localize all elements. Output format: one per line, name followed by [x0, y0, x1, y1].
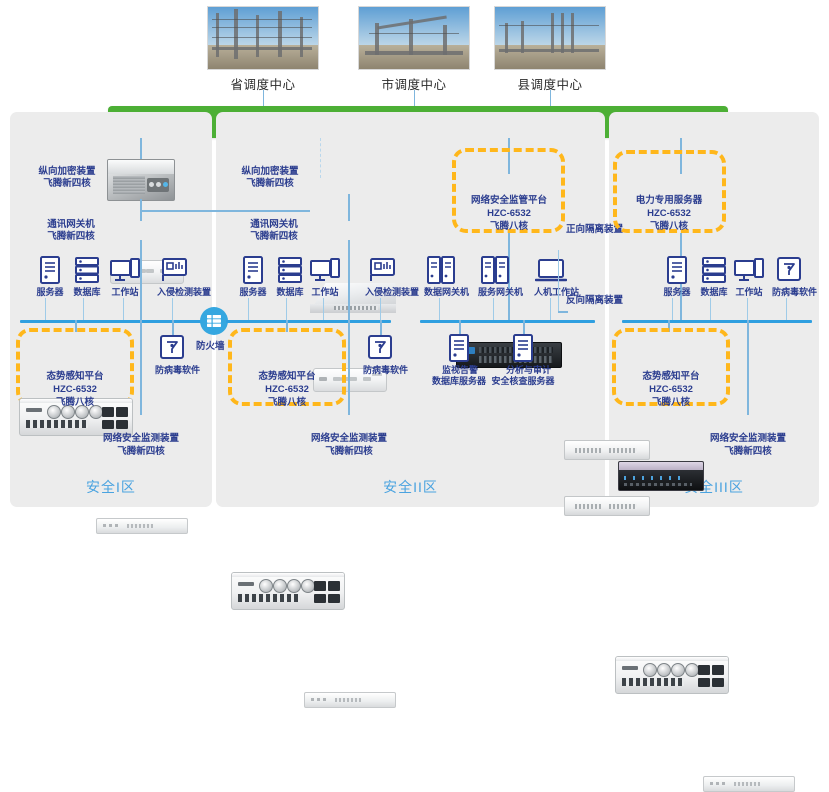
stem-z2-data-gateway — [439, 298, 440, 321]
connector-z2-enc-to-gateway — [348, 194, 350, 221]
z3-network-monitor-icon[interactable] — [703, 776, 795, 792]
stem-z1-ids — [172, 298, 173, 321]
z2-icon-intrusion-detection[interactable]: 入侵检测装置 — [365, 256, 399, 298]
icon-label: 数据库 — [70, 287, 104, 298]
z3-network-bus — [622, 320, 812, 323]
connector-z1-to-z2-link — [140, 210, 310, 212]
firewall-label: 防火墙 — [196, 338, 225, 352]
connector-vpn-to-z2-encryptor — [320, 138, 321, 178]
z2-right-network-bus — [420, 320, 595, 323]
stem-z3-server — [672, 298, 673, 321]
dispatch-center-photos: 省调度中心 市调度中心 — [0, 0, 829, 100]
z1-network-monitor-label: 网络安全监测装置 飞腾新四核 — [81, 432, 201, 458]
connector-z1-bus-to-monitor — [140, 320, 142, 415]
icon-label: 入侵检测装置 — [365, 287, 399, 298]
z1-communication-gateway-label: 通讯网关机 飞腾新四核 — [36, 219, 106, 243]
z1-vertical-encryption-device-icon[interactable] — [107, 159, 175, 201]
icon-label-line2: 数据库服务器 — [425, 376, 493, 387]
icon-label-line1: 监视告警 — [442, 365, 476, 376]
connector-isolation-to-bus — [558, 311, 568, 313]
z1-network-bus — [20, 320, 220, 323]
icon-label: 工作站 — [732, 287, 766, 298]
connector-z2-gateway-to-bus — [348, 240, 350, 321]
icon-label: 工作站 — [308, 287, 342, 298]
substation-photo — [358, 6, 470, 70]
connector-z3-bus-to-monitor — [747, 320, 749, 415]
stem-z1-server — [45, 298, 46, 321]
z2-icon-workstation[interactable]: 工作站 — [308, 256, 342, 298]
z2-reverse-isolation-device-icon[interactable] — [564, 496, 650, 516]
z2-icon-service-gateway[interactable]: 服务网关机 — [478, 256, 512, 298]
z1-icon-workstation[interactable]: 工作站 — [108, 256, 142, 298]
z1-icon-intrusion-detection[interactable]: 入侵检测装置 — [157, 256, 191, 298]
zone-label: 安全II区 — [216, 477, 605, 497]
stem-z2-hmi — [550, 298, 551, 321]
z2-icon-server[interactable]: 服务器 — [236, 256, 270, 298]
connector-isolation-left-rail — [558, 250, 559, 312]
z2-left-network-bus — [226, 320, 391, 323]
icon-label: 入侵检测装置 — [157, 287, 191, 298]
stem-z1-database — [83, 298, 84, 321]
icon-label: 防病毒软件 — [155, 365, 189, 376]
z2-network-monitor-label: 网络安全监测装置 飞腾新四核 — [289, 432, 409, 458]
stem-z3-workstation — [747, 298, 748, 321]
node-county-dispatch[interactable]: 县调度中心 — [490, 6, 610, 93]
z1-icon-database[interactable]: 数据库 — [70, 256, 104, 298]
icon-label: 数据库 — [273, 287, 307, 298]
z3-network-monitor-label: 网络安全监测装置 飞腾新四核 — [688, 432, 808, 458]
z2-icon-antivirus[interactable]: 防病毒软件 — [363, 334, 397, 376]
z3-situational-awareness-platform-icon[interactable] — [615, 656, 729, 694]
z3-situational-awareness-label: 态势感知平台 HZC-6532 飞腾八核 — [611, 370, 731, 409]
stem-z3-antivirus — [786, 298, 787, 321]
icon-label: 防病毒软件 — [363, 365, 397, 376]
z2-icon-database[interactable]: 数据库 — [273, 256, 307, 298]
connector-z2-bus-to-monitor — [348, 320, 350, 415]
z2-forward-isolation-device-icon[interactable] — [564, 440, 650, 460]
icon-label-line2: 安全核查服务器 — [486, 376, 560, 387]
stem-z2-database — [286, 298, 287, 321]
stem-z2-server — [248, 298, 249, 321]
network-architecture-diagram: 省调度中心 市调度中心 — [0, 0, 829, 519]
substation-photo — [207, 6, 319, 70]
icon-label: 服务器 — [660, 287, 694, 298]
stem-z2-ids — [380, 298, 381, 321]
node-city-dispatch[interactable]: 市调度中心 — [354, 6, 474, 93]
z3-power-dedicated-server-label: 电力专用服务器 HZC-6532 飞腾八核 — [610, 194, 728, 233]
stem-z2-service-gateway — [493, 298, 494, 321]
icon-label: 数据网关机 — [424, 287, 458, 298]
icon-label: 工作站 — [108, 287, 142, 298]
icon-label: 人机工作站 — [534, 287, 568, 298]
z1-icon-server[interactable]: 服务器 — [33, 256, 67, 298]
z3-power-dedicated-server-icon[interactable] — [618, 461, 704, 491]
z3-icon-server[interactable]: 服务器 — [660, 256, 694, 298]
substation-photo — [494, 6, 606, 70]
z2-supervision-platform-label: 网络安全监管平台 HZC-6532 飞腾八核 — [450, 194, 568, 233]
z3-icon-antivirus[interactable]: 防病毒软件 — [772, 256, 806, 298]
z2-vertical-encryption-label: 纵向加密装置 飞腾新四核 — [234, 166, 306, 190]
zone-label: 安全I区 — [10, 477, 212, 497]
icon-label: 服务器 — [236, 287, 270, 298]
z3-icon-workstation[interactable]: 工作站 — [732, 256, 766, 298]
z1-situational-awareness-label: 态势感知平台 HZC-6532 飞腾八核 — [15, 370, 135, 409]
icon-label: 服务器 — [33, 287, 67, 298]
z2-situational-awareness-label: 态势感知平台 HZC-6532 飞腾八核 — [227, 370, 347, 409]
z1-icon-antivirus[interactable]: 防病毒软件 — [155, 334, 189, 376]
z1-network-monitor-icon[interactable] — [96, 518, 188, 534]
z2-situational-awareness-platform-icon[interactable] — [231, 572, 345, 610]
icon-label: 防病毒软件 — [772, 287, 806, 298]
z2-icon-alarm-db-server[interactable]: 监视告警 数据库服务器 — [442, 334, 476, 387]
z2-communication-gateway-label: 通讯网关机 飞腾新四核 — [239, 219, 309, 243]
stem-z1-workstation — [123, 298, 124, 321]
icon-label-line1: 分析与审计 — [506, 365, 540, 376]
stem-z2-workstation — [323, 298, 324, 321]
z2-icon-data-gateway[interactable]: 数据网关机 — [424, 256, 458, 298]
z1-vertical-encryption-label: 纵向加密装置 飞腾新四核 — [31, 166, 103, 190]
icon-label: 服务网关机 — [478, 287, 512, 298]
z3-icon-database[interactable]: 数据库 — [697, 256, 731, 298]
z2-icon-hmi-workstation[interactable]: 人机工作站 — [534, 258, 568, 298]
stem-z3-database — [710, 298, 711, 321]
icon-label: 数据库 — [697, 287, 731, 298]
z2-icon-audit-server[interactable]: 分析与审计 安全核查服务器 — [506, 334, 540, 387]
z2-network-monitor-icon[interactable] — [304, 692, 396, 708]
firewall-icon[interactable] — [200, 307, 228, 335]
node-province-dispatch[interactable]: 省调度中心 — [203, 6, 323, 93]
z2-reverse-isolation-label: 反向隔离装置 — [566, 295, 650, 307]
